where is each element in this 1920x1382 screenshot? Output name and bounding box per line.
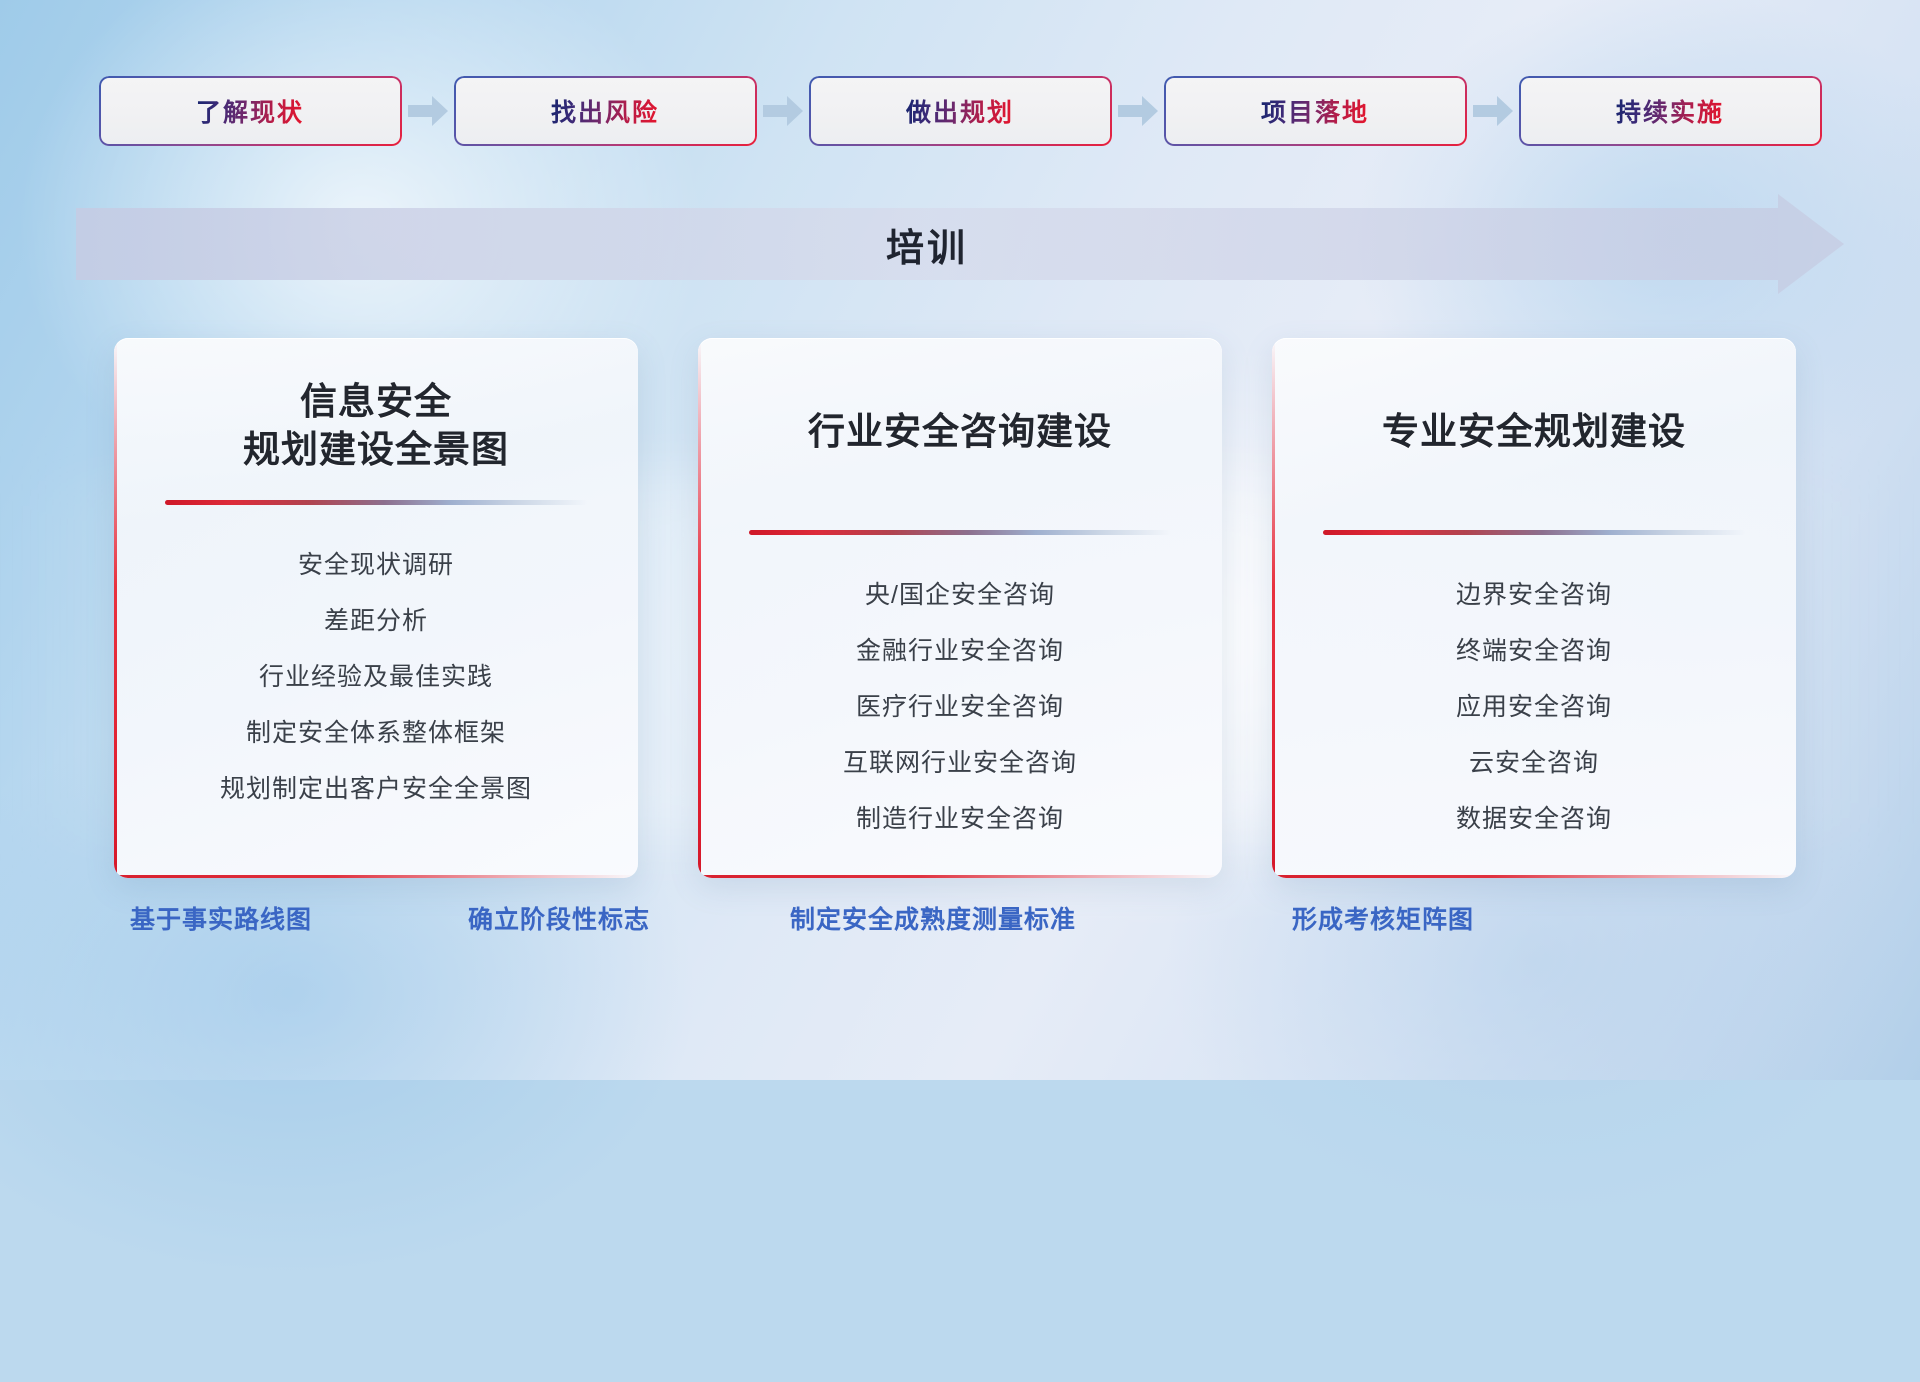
card-title-1: 信息安全 规划建设全景图 [243,378,509,474]
card-title-2: 行业安全咨询建设 [808,408,1112,456]
list-item: 差距分析 [324,601,428,637]
process-step-row: 了解现状 找出风险 做出规划 项目落地 [0,76,1920,146]
list-item: 应用安全咨询 [1456,687,1612,723]
footnote-row: 基于事实路线图 确立阶段性标志 制定安全成熟度测量标准 形成考核矩阵图 [0,900,1920,960]
footnote-label-2: 确立阶段性标志 [468,900,650,936]
training-banner-title: 培训 [76,208,1778,280]
card-divider-1 [165,500,587,505]
training-banner: 培训 [76,208,1844,280]
footnote-label-4: 形成考核矩阵图 [1292,900,1474,936]
footnote-label-1: 基于事实路线图 [130,900,312,936]
training-banner-arrow-tip [1778,194,1844,294]
slide-canvas: 了解现状 找出风险 做出规划 项目落地 [0,0,1920,1080]
card-divider-3 [1323,530,1745,535]
step-button-5[interactable]: 持续实施 [1519,76,1822,146]
card-industry-security-consulting[interactable]: 行业安全咨询建设 央/国企安全咨询 金融行业安全咨询 医疗行业安全咨询 互联网行… [698,338,1222,878]
list-item: 制定安全体系整体框架 [246,713,506,749]
list-item: 金融行业安全咨询 [856,631,1064,667]
step-label-5: 持续实施 [1616,93,1724,129]
list-item: 规划制定出客户安全全景图 [220,769,532,805]
step-arrow-3 [1112,76,1164,146]
card-row: 信息安全 规划建设全景图 安全现状调研 差距分析 行业经验及最佳实践 制定安全体… [0,338,1920,878]
list-item: 安全现状调研 [298,545,454,581]
list-item: 云安全咨询 [1469,743,1599,779]
step-label-4: 项目落地 [1261,93,1369,129]
step-label-3: 做出规划 [906,93,1014,129]
step-arrow-4 [1467,76,1519,146]
step-button-3[interactable]: 做出规划 [809,76,1112,146]
card-list-3: 边界安全咨询 终端安全咨询 应用安全咨询 云安全咨询 数据安全咨询 [1298,575,1770,835]
card-list-1: 安全现状调研 差距分析 行业经验及最佳实践 制定安全体系整体框架 规划制定出客户… [140,545,612,805]
card-professional-security-planning[interactable]: 专业安全规划建设 边界安全咨询 终端安全咨询 应用安全咨询 云安全咨询 数据安全… [1272,338,1796,878]
step-label-1: 了解现状 [196,93,304,129]
step-label-2: 找出风险 [551,93,659,129]
list-item: 边界安全咨询 [1456,575,1612,611]
list-item: 医疗行业安全咨询 [856,687,1064,723]
list-item: 央/国企安全咨询 [865,575,1055,611]
list-item: 数据安全咨询 [1456,799,1612,835]
footnote-label-3: 制定安全成熟度测量标准 [790,900,1076,936]
card-divider-2 [749,530,1171,535]
step-button-1[interactable]: 了解现状 [99,76,402,146]
card-title-3: 专业安全规划建设 [1382,408,1686,456]
card-information-security-blueprint[interactable]: 信息安全 规划建设全景图 安全现状调研 差距分析 行业经验及最佳实践 制定安全体… [114,338,638,878]
list-item: 互联网行业安全咨询 [843,743,1077,779]
step-button-4[interactable]: 项目落地 [1164,76,1467,146]
step-button-2[interactable]: 找出风险 [454,76,757,146]
card-title-line: 专业安全规划建设 [1382,408,1686,456]
list-item: 行业经验及最佳实践 [259,657,493,693]
list-item: 终端安全咨询 [1456,631,1612,667]
card-title-line: 行业安全咨询建设 [808,408,1112,456]
card-title-line: 规划建设全景图 [243,426,509,474]
step-arrow-2 [757,76,809,146]
card-list-2: 央/国企安全咨询 金融行业安全咨询 医疗行业安全咨询 互联网行业安全咨询 制造行… [724,575,1196,835]
step-arrow-1 [402,76,454,146]
card-title-line: 信息安全 [243,378,509,426]
list-item: 制造行业安全咨询 [856,799,1064,835]
